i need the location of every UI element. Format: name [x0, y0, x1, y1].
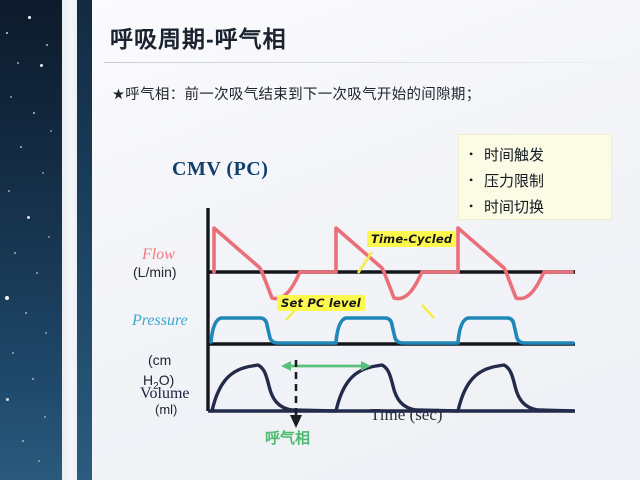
slide: 呼吸周期-呼气相 ★呼气相：前一次吸气结束到下一次吸气开始的间隙期； 时间触发 … [0, 0, 640, 480]
expiration-marker [290, 360, 302, 428]
volume-waveform [212, 365, 573, 411]
pressure-waveform [211, 318, 573, 343]
expiratory-span-arrow [281, 361, 371, 371]
annotation-set-pc-level: Set PC level [277, 295, 365, 311]
annotation-time-cycled: Time-Cycled [367, 231, 456, 247]
waveform-plot [0, 0, 640, 480]
